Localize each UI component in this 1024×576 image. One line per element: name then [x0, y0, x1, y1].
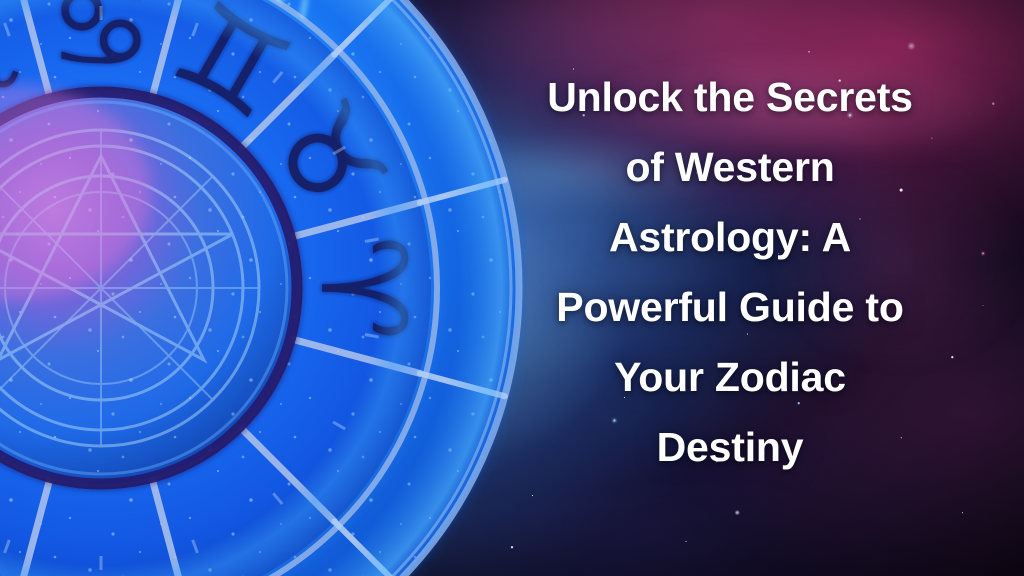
page-title: Unlock the Secrets of Western Astrology:… — [458, 62, 1002, 482]
wheel-rim-glow — [0, 0, 527, 576]
astrology-banner: ♍ ♌ ♋ ♊ ♉ ♈ ♎ — [0, 0, 1024, 576]
zodiac-wheel: ♍ ♌ ♋ ♊ ♉ ♈ ♎ — [0, 0, 527, 576]
